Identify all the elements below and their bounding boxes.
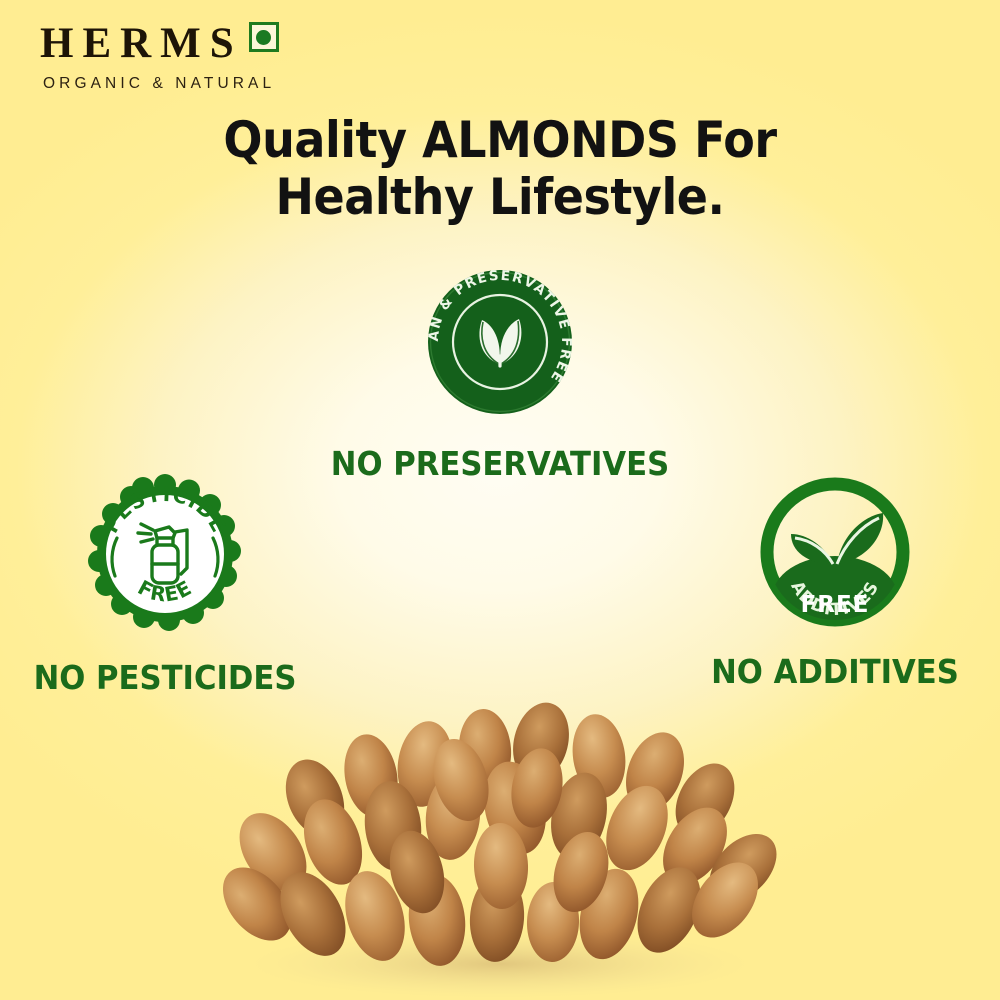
headline-line-2: Healthy Lifestyle. — [40, 169, 960, 226]
pesticide-free-seal-icon: PESTICIDE FREE — [83, 472, 247, 636]
seal-bottom-text: FREE — [801, 592, 870, 618]
brand-tagline: ORGANIC & NATURAL — [43, 75, 340, 93]
almonds-illustration — [185, 676, 815, 1000]
badge-preservatives-caption: NO PRESERVATIVES — [305, 444, 696, 483]
pile-of-almonds-image — [185, 676, 815, 1000]
vegetarian-dot-icon — [256, 30, 271, 45]
additives-free-seal-icon: ADDITIVES FREE — [755, 472, 915, 632]
brand-logo: HERMS ORGANIC & NATURAL — [40, 20, 340, 93]
vegetarian-mark-icon — [249, 22, 279, 52]
page-title: Quality ALMONDS For Healthy Lifestyle. — [40, 112, 960, 226]
headline-line-1: Quality ALMONDS For — [223, 111, 776, 169]
badge-additives: ADDITIVES FREE NO ADDITIVES — [670, 472, 1000, 691]
clean-preservative-free-seal-icon: CLEAN & PRESERVATIVE FREE — [420, 262, 580, 422]
brand-logo-row: HERMS — [40, 20, 340, 68]
brand-name: HERMS — [40, 20, 243, 68]
badge-pesticides: PESTICIDE FREE NO PESTICIDES — [0, 472, 330, 697]
poster-canvas: HERMS ORGANIC & NATURAL Quality ALMONDS … — [0, 0, 1000, 1000]
badge-preservatives: CLEAN & PRESERVATIVE FREE NO PRESERVATIV… — [290, 262, 710, 483]
